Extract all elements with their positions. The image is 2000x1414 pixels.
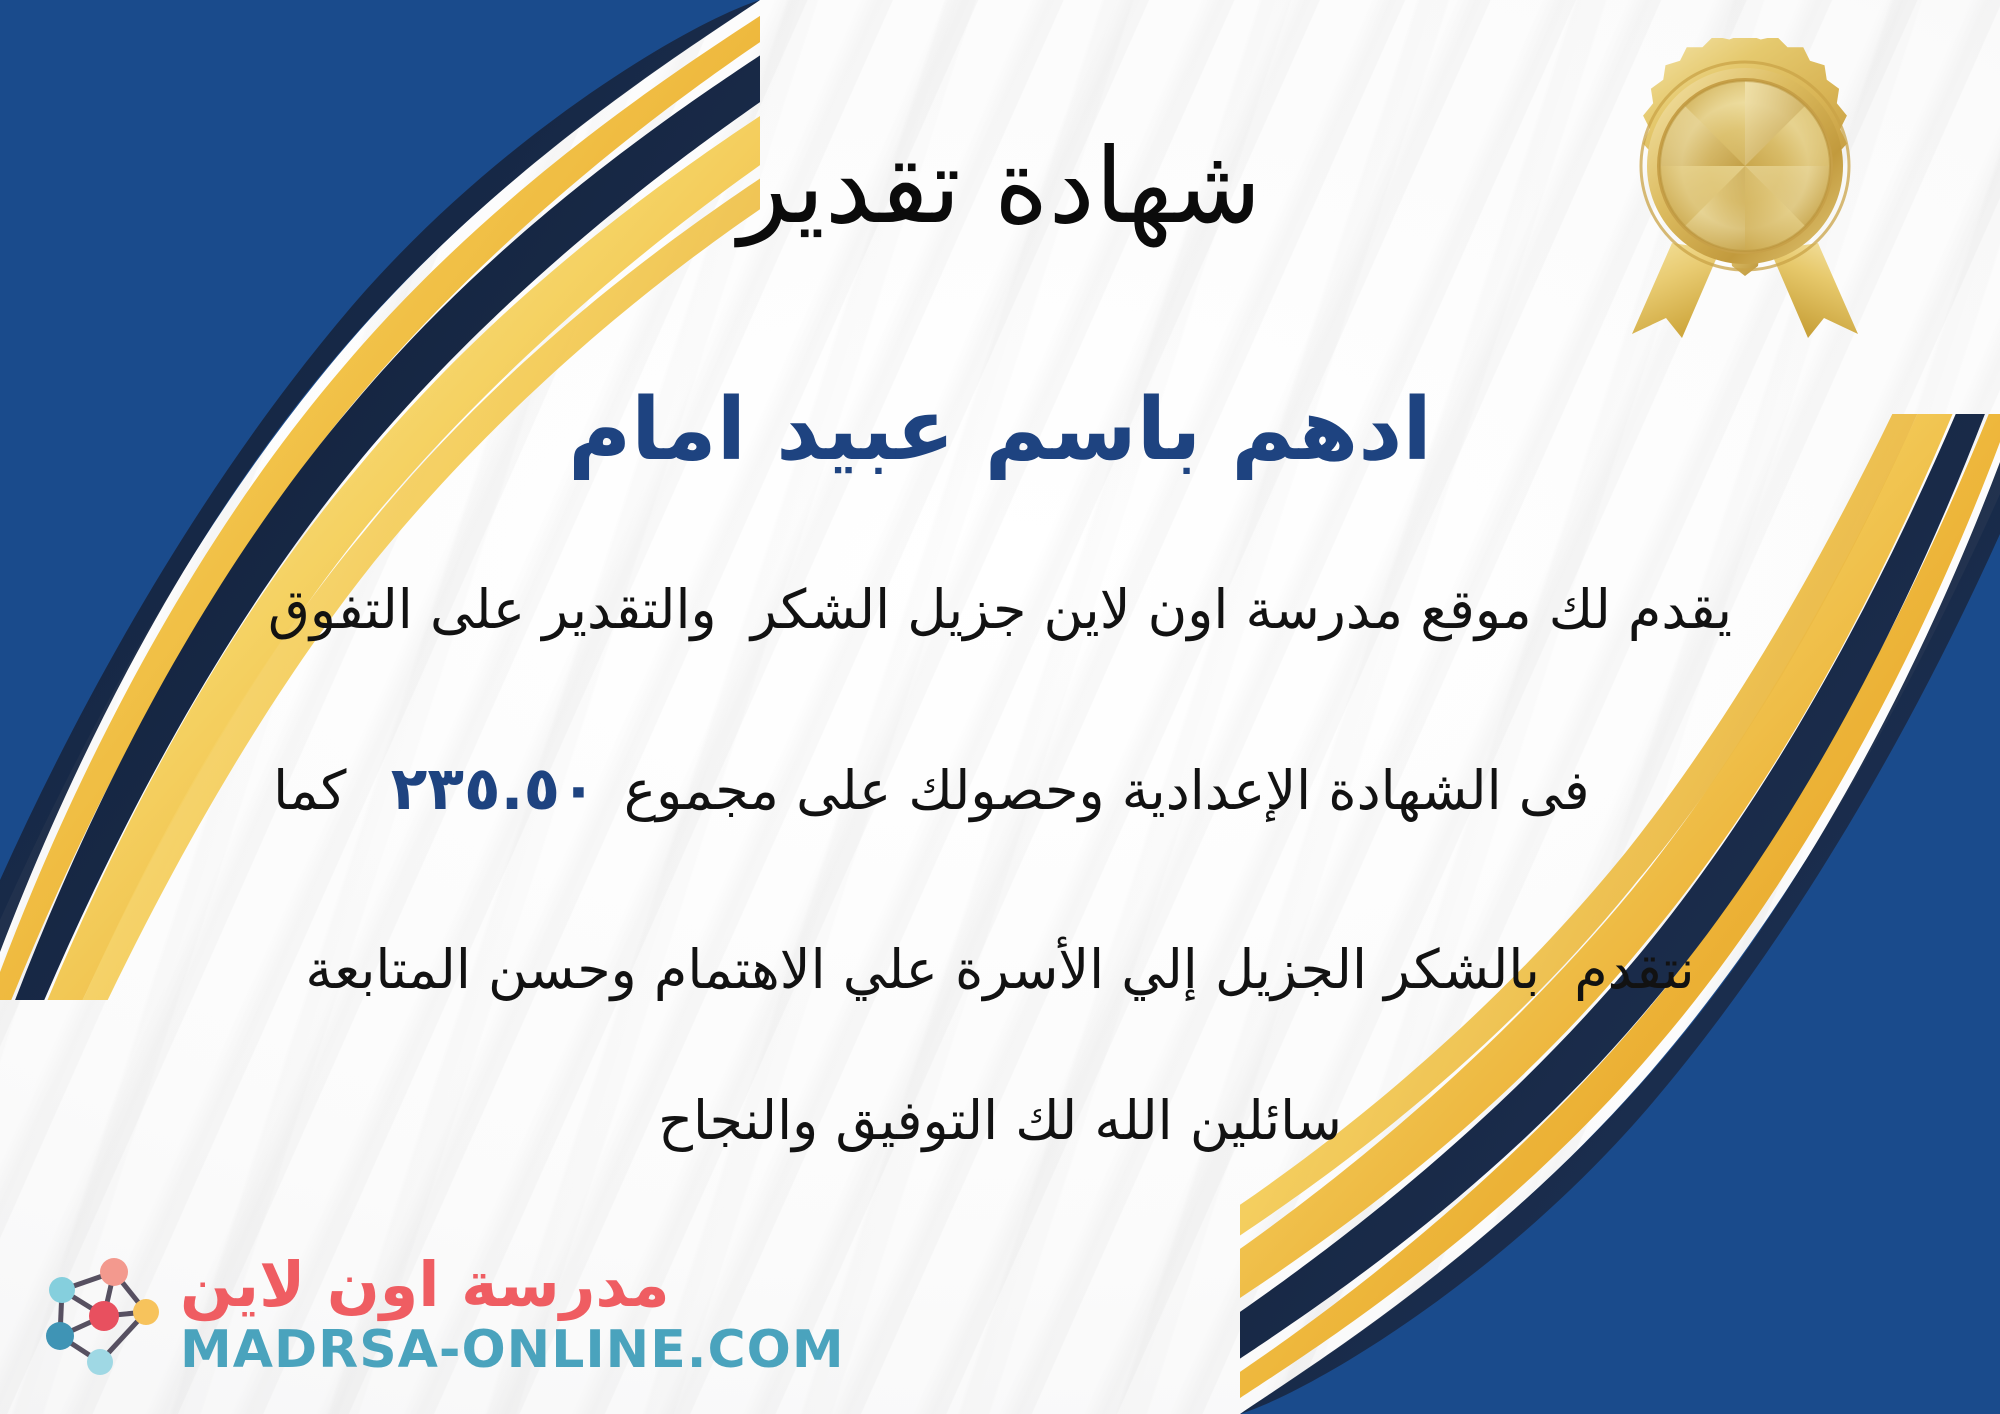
certificate-title: شهادة تقدير bbox=[738, 132, 1261, 241]
brand-website-url[interactable]: MADRSA-ONLINE.COM bbox=[180, 1324, 845, 1376]
gold-award-seal-icon bbox=[1600, 38, 1890, 338]
certificate-canvas: شهادة تقدير ادهم باسم عبيد امام يقدم لك … bbox=[0, 0, 2000, 1414]
brand-text: مدرسة اون لاين MADRSA-ONLINE.COM bbox=[180, 1254, 845, 1376]
recipient-name: ادهم باسم عبيد امام bbox=[568, 381, 1432, 480]
body-line-3: نتقدم بالشكر الجزيل إلي الأسرة علي الاهت… bbox=[100, 926, 1900, 1013]
brand-logo[interactable]: مدرسة اون لاين MADRSA-ONLINE.COM bbox=[34, 1250, 845, 1380]
network-nodes-icon bbox=[34, 1250, 166, 1380]
body-line-2-suffix: كما bbox=[273, 759, 381, 822]
certificate-body: يقدم لك موقع مدرسة اون لاين جزيل الشكر و… bbox=[100, 566, 1900, 1013]
body-line-2-prefix: فى الشهادة الإعدادية وحصولك على مجموع bbox=[607, 759, 1590, 822]
closing-wish-line: سائلين الله لك التوفيق والنجاح bbox=[658, 1089, 1342, 1152]
total-score-value: ٢٣٥.٥٠ bbox=[381, 754, 607, 824]
brand-arabic-name: مدرسة اون لاين bbox=[180, 1254, 670, 1316]
body-line-1: يقدم لك موقع مدرسة اون لاين جزيل الشكر و… bbox=[100, 566, 1900, 653]
body-line-2: فى الشهادة الإعدادية وحصولك على مجموع ٢٣… bbox=[100, 654, 1900, 926]
